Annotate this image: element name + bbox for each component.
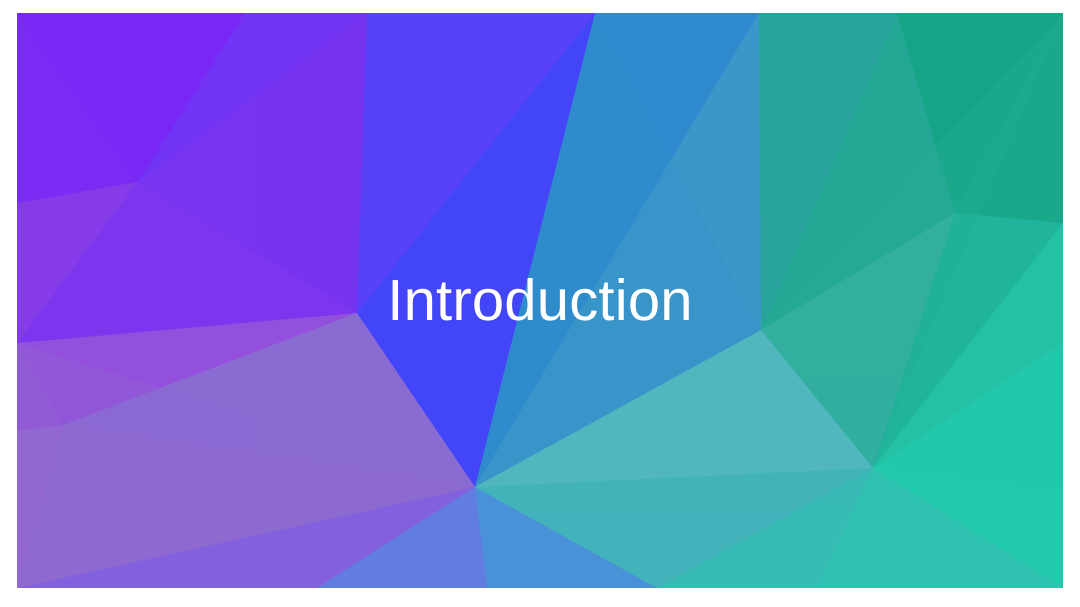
- triangle-mesh: [17, 13, 1063, 588]
- slide-artwork-canvas: [17, 13, 1063, 588]
- low-poly-background-graphic: [17, 13, 1063, 588]
- slide-root: Introduction: [0, 0, 1080, 607]
